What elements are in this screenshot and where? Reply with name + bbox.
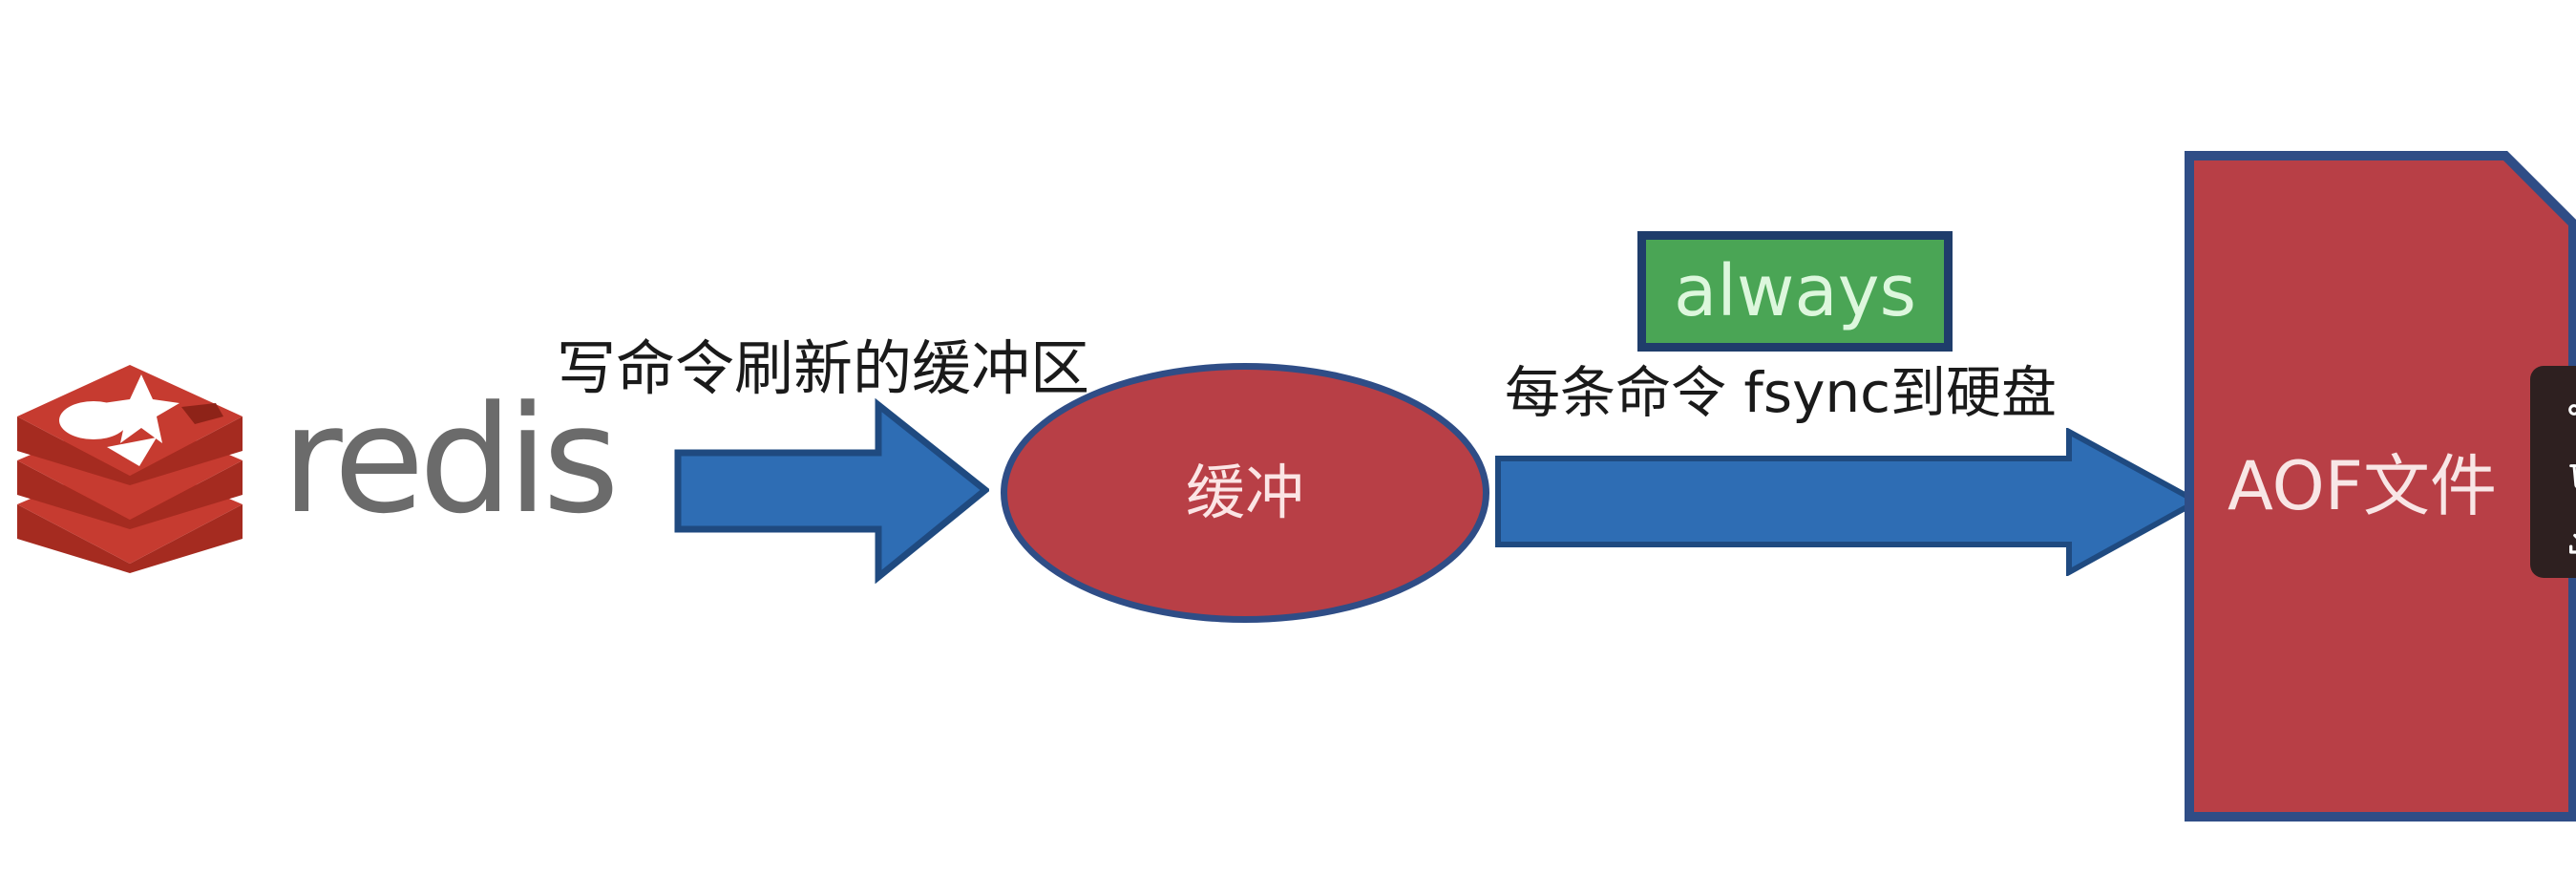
buffer-node: 缓冲 — [1001, 363, 1489, 623]
buffer-node-label: 缓冲 — [1186, 463, 1304, 523]
right-block-arrow-icon — [1494, 428, 2201, 576]
arrow1-label: 写命令刷新的缓冲区 — [557, 339, 1089, 398]
policy-badge-always: always — [1637, 231, 1953, 352]
redis-wordmark: redis — [282, 386, 614, 534]
diagram-canvas: redis 写命令刷新的缓冲区 缓冲 always 每条命令 fsync到硬盘 … — [0, 0, 2576, 875]
share-icon[interactable] — [2565, 391, 2576, 429]
redis-logo-icon — [11, 361, 248, 576]
policy-badge-label: always — [1674, 256, 1916, 327]
download-icon[interactable] — [2565, 519, 2576, 557]
trash-icon[interactable] — [2565, 455, 2576, 493]
aof-file-node: AOF文件 — [2185, 151, 2576, 822]
floating-action-toolbar[interactable] — [2530, 366, 2576, 578]
right-block-arrow-icon — [674, 397, 989, 584]
arrow2-label: 每条命令 fsync到硬盘 — [1505, 365, 2057, 420]
